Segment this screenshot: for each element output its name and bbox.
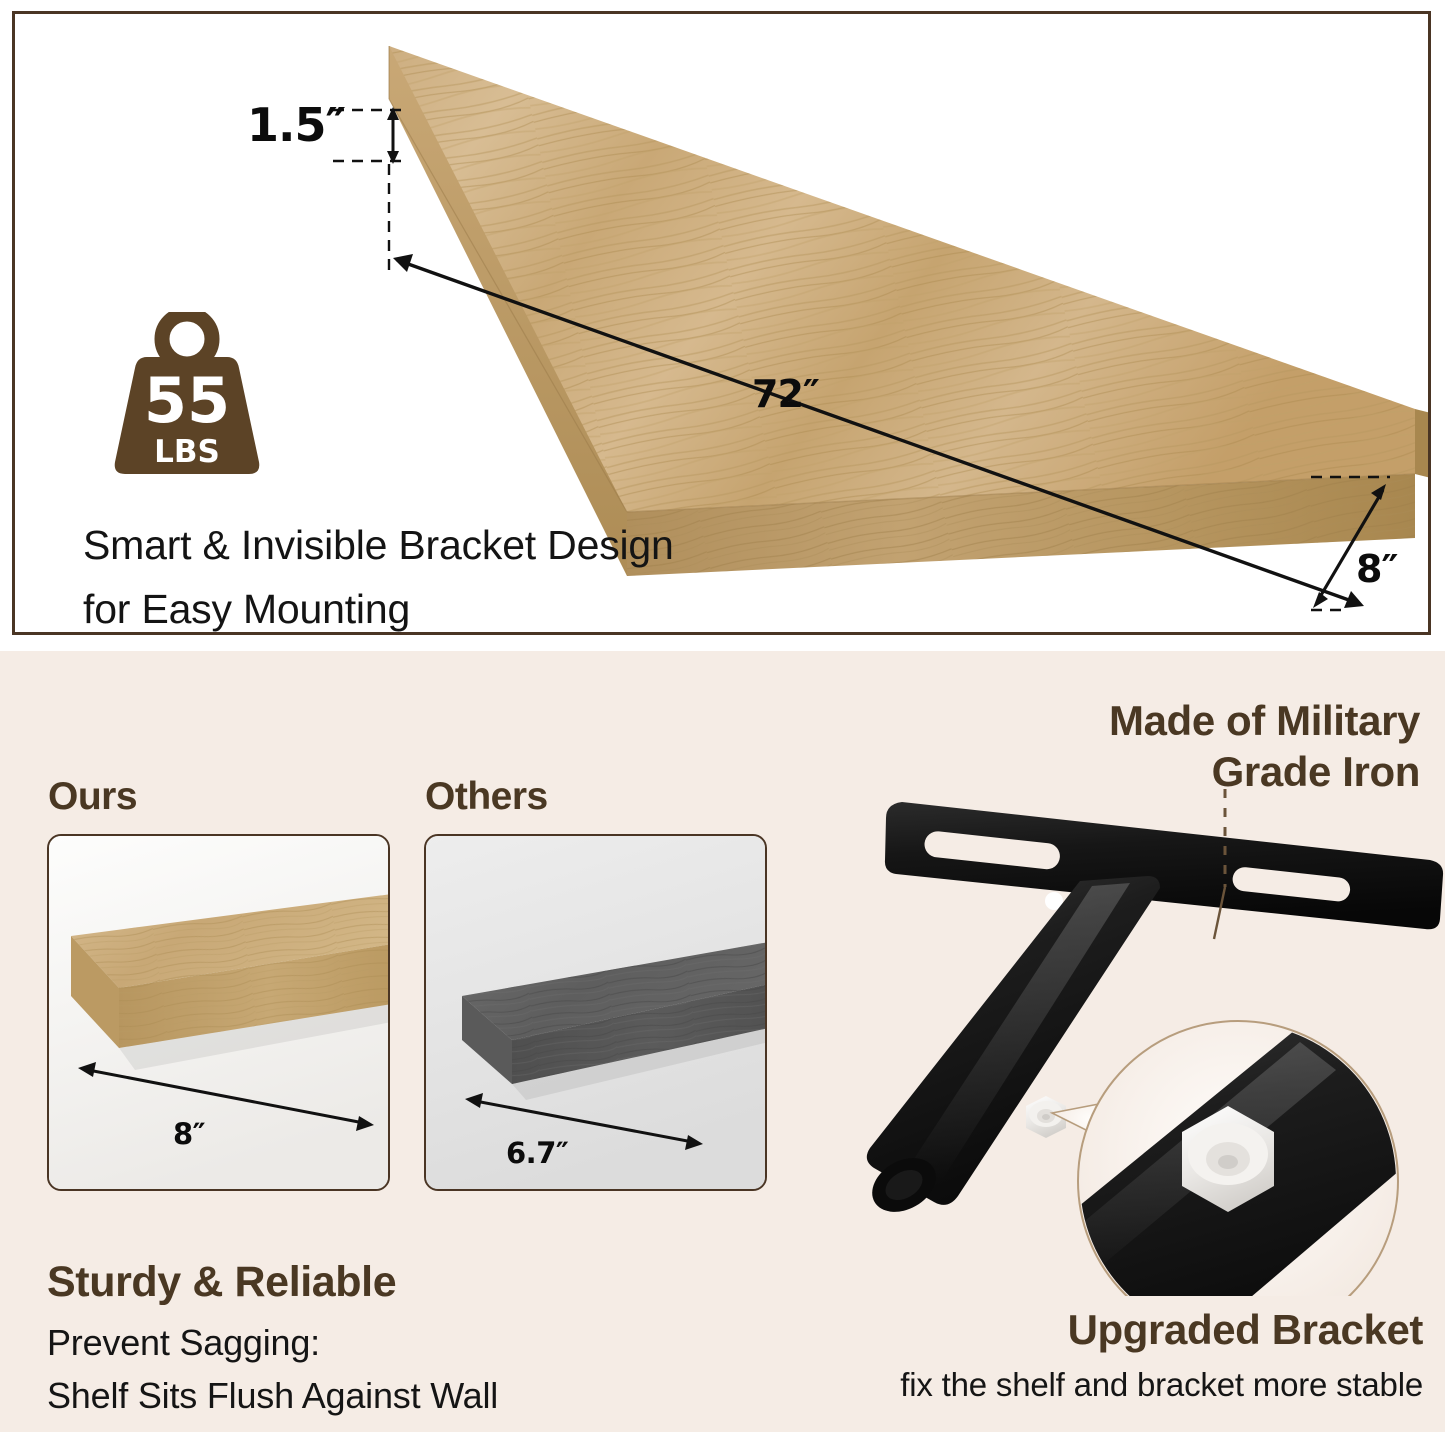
dimension-depth-label: 8″ — [1356, 547, 1397, 591]
weight-value: 55 — [144, 364, 230, 437]
comparison-card-others: 6.7″ — [424, 834, 767, 1191]
dimension-length-label: 72″ — [752, 372, 819, 416]
sturdy-line2: Shelf Sits Flush Against Wall — [47, 1375, 498, 1417]
upgraded-bracket-subtitle: fix the shelf and bracket more stable — [900, 1366, 1423, 1404]
weight-icon: 55 LBS — [113, 312, 261, 477]
weight-capacity-badge: 55 LBS 55 LBS — [113, 312, 261, 477]
military-iron-line1: Made of Military — [720, 695, 1420, 746]
magnifier-callout — [1030, 1021, 1440, 1296]
comparison-label-others: Others — [425, 775, 548, 819]
comparison-dimension-others: 6.7″ — [506, 1136, 568, 1170]
comparison-dimension-ours: 8″ — [173, 1117, 205, 1151]
dimension-thickness-label: 1.5″ — [247, 98, 345, 152]
sturdy-title: Sturdy & Reliable — [47, 1258, 396, 1307]
bracket-illustration — [830, 776, 1445, 1296]
top-headline-line2: for Easy Mounting — [83, 578, 913, 635]
weight-unit: LBS — [154, 434, 220, 470]
top-feature-panel: 1.5″ 72″ 8″ 55 LBS 55 LBS Smart & Invisi… — [12, 11, 1431, 635]
sturdy-line1: Prevent Sagging: — [47, 1322, 320, 1364]
upgraded-bracket-title: Upgraded Bracket — [1068, 1306, 1423, 1354]
top-headline: Smart & Invisible Bracket Design for Eas… — [83, 514, 913, 635]
bottom-feature-panel: Ours Others — [0, 651, 1445, 1432]
top-headline-line1: Smart & Invisible Bracket Design — [83, 514, 913, 578]
comparison-label-ours: Ours — [48, 775, 137, 819]
comparison-card-ours: 8″ — [47, 834, 390, 1191]
